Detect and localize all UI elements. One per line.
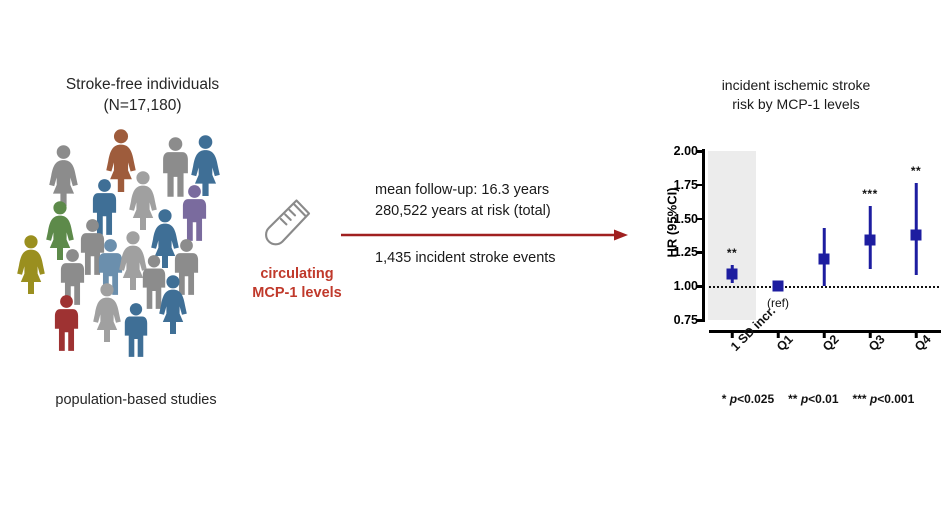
person-icon	[92, 282, 122, 347]
test-tube-icon	[262, 196, 314, 259]
y-tick-label: 1.50	[656, 212, 698, 226]
cohort-title: Stroke-free individuals (N=17,180)	[0, 74, 285, 116]
y-axis-tick-labels: 0.751.001.251.501.752.00	[650, 0, 698, 532]
followup-text: mean follow-up: 16.3 years 280,522 years…	[375, 180, 551, 222]
y-tick-label: 1.00	[656, 279, 698, 293]
pvalue-legend-item: * p<0.025	[722, 392, 774, 406]
tube-label: circulating MCP-1 levels	[233, 265, 361, 303]
studies-caption: population-based studies	[0, 392, 272, 408]
y-tick-label: 1.25	[656, 245, 698, 259]
hr-marker	[819, 254, 830, 265]
plot-area: **(ref)*****	[709, 151, 939, 320]
events-text: 1,435 incident stroke events	[375, 250, 556, 266]
hr-marker	[727, 269, 738, 280]
x-tick-mark	[915, 330, 918, 338]
person-icon	[158, 274, 188, 339]
y-tick-mark	[696, 150, 703, 153]
person-icon	[16, 234, 46, 299]
highlight-band	[708, 151, 756, 320]
x-tick-mark	[869, 330, 872, 338]
y-tick-mark	[696, 251, 703, 254]
y-axis-spine	[702, 149, 705, 322]
reference-line	[709, 286, 939, 288]
hr-marker	[865, 235, 876, 246]
y-tick-mark	[696, 285, 703, 288]
significance-stars: ***	[862, 187, 878, 201]
x-tick-mark	[731, 330, 734, 338]
y-tick-mark	[696, 184, 703, 187]
hr-marker	[773, 281, 784, 292]
x-tick-mark	[823, 330, 826, 338]
people-pictogram-cluster	[0, 126, 285, 376]
person-icon	[52, 294, 81, 357]
flow-arrow	[340, 228, 630, 247]
forest-plot-panel: incident ischemic stroke risk by MCP-1 l…	[640, 0, 948, 532]
person-icon	[122, 302, 150, 363]
y-tick-mark	[696, 319, 703, 322]
y-tick-label: 1.75	[656, 178, 698, 192]
pvalue-legend-item: ** p<0.01	[788, 392, 838, 406]
pvalue-legend: * p<0.025** p<0.01*** p<0.001	[688, 392, 948, 406]
y-tick-label: 0.75	[656, 313, 698, 327]
y-tick-mark	[696, 218, 703, 221]
significance-stars: **	[911, 164, 921, 178]
pvalue-legend-item: *** p<0.001	[853, 392, 915, 406]
significance-stars: **	[727, 246, 737, 260]
x-tick-mark	[777, 330, 780, 338]
y-tick-label: 2.00	[656, 144, 698, 158]
hr-marker	[911, 229, 922, 240]
